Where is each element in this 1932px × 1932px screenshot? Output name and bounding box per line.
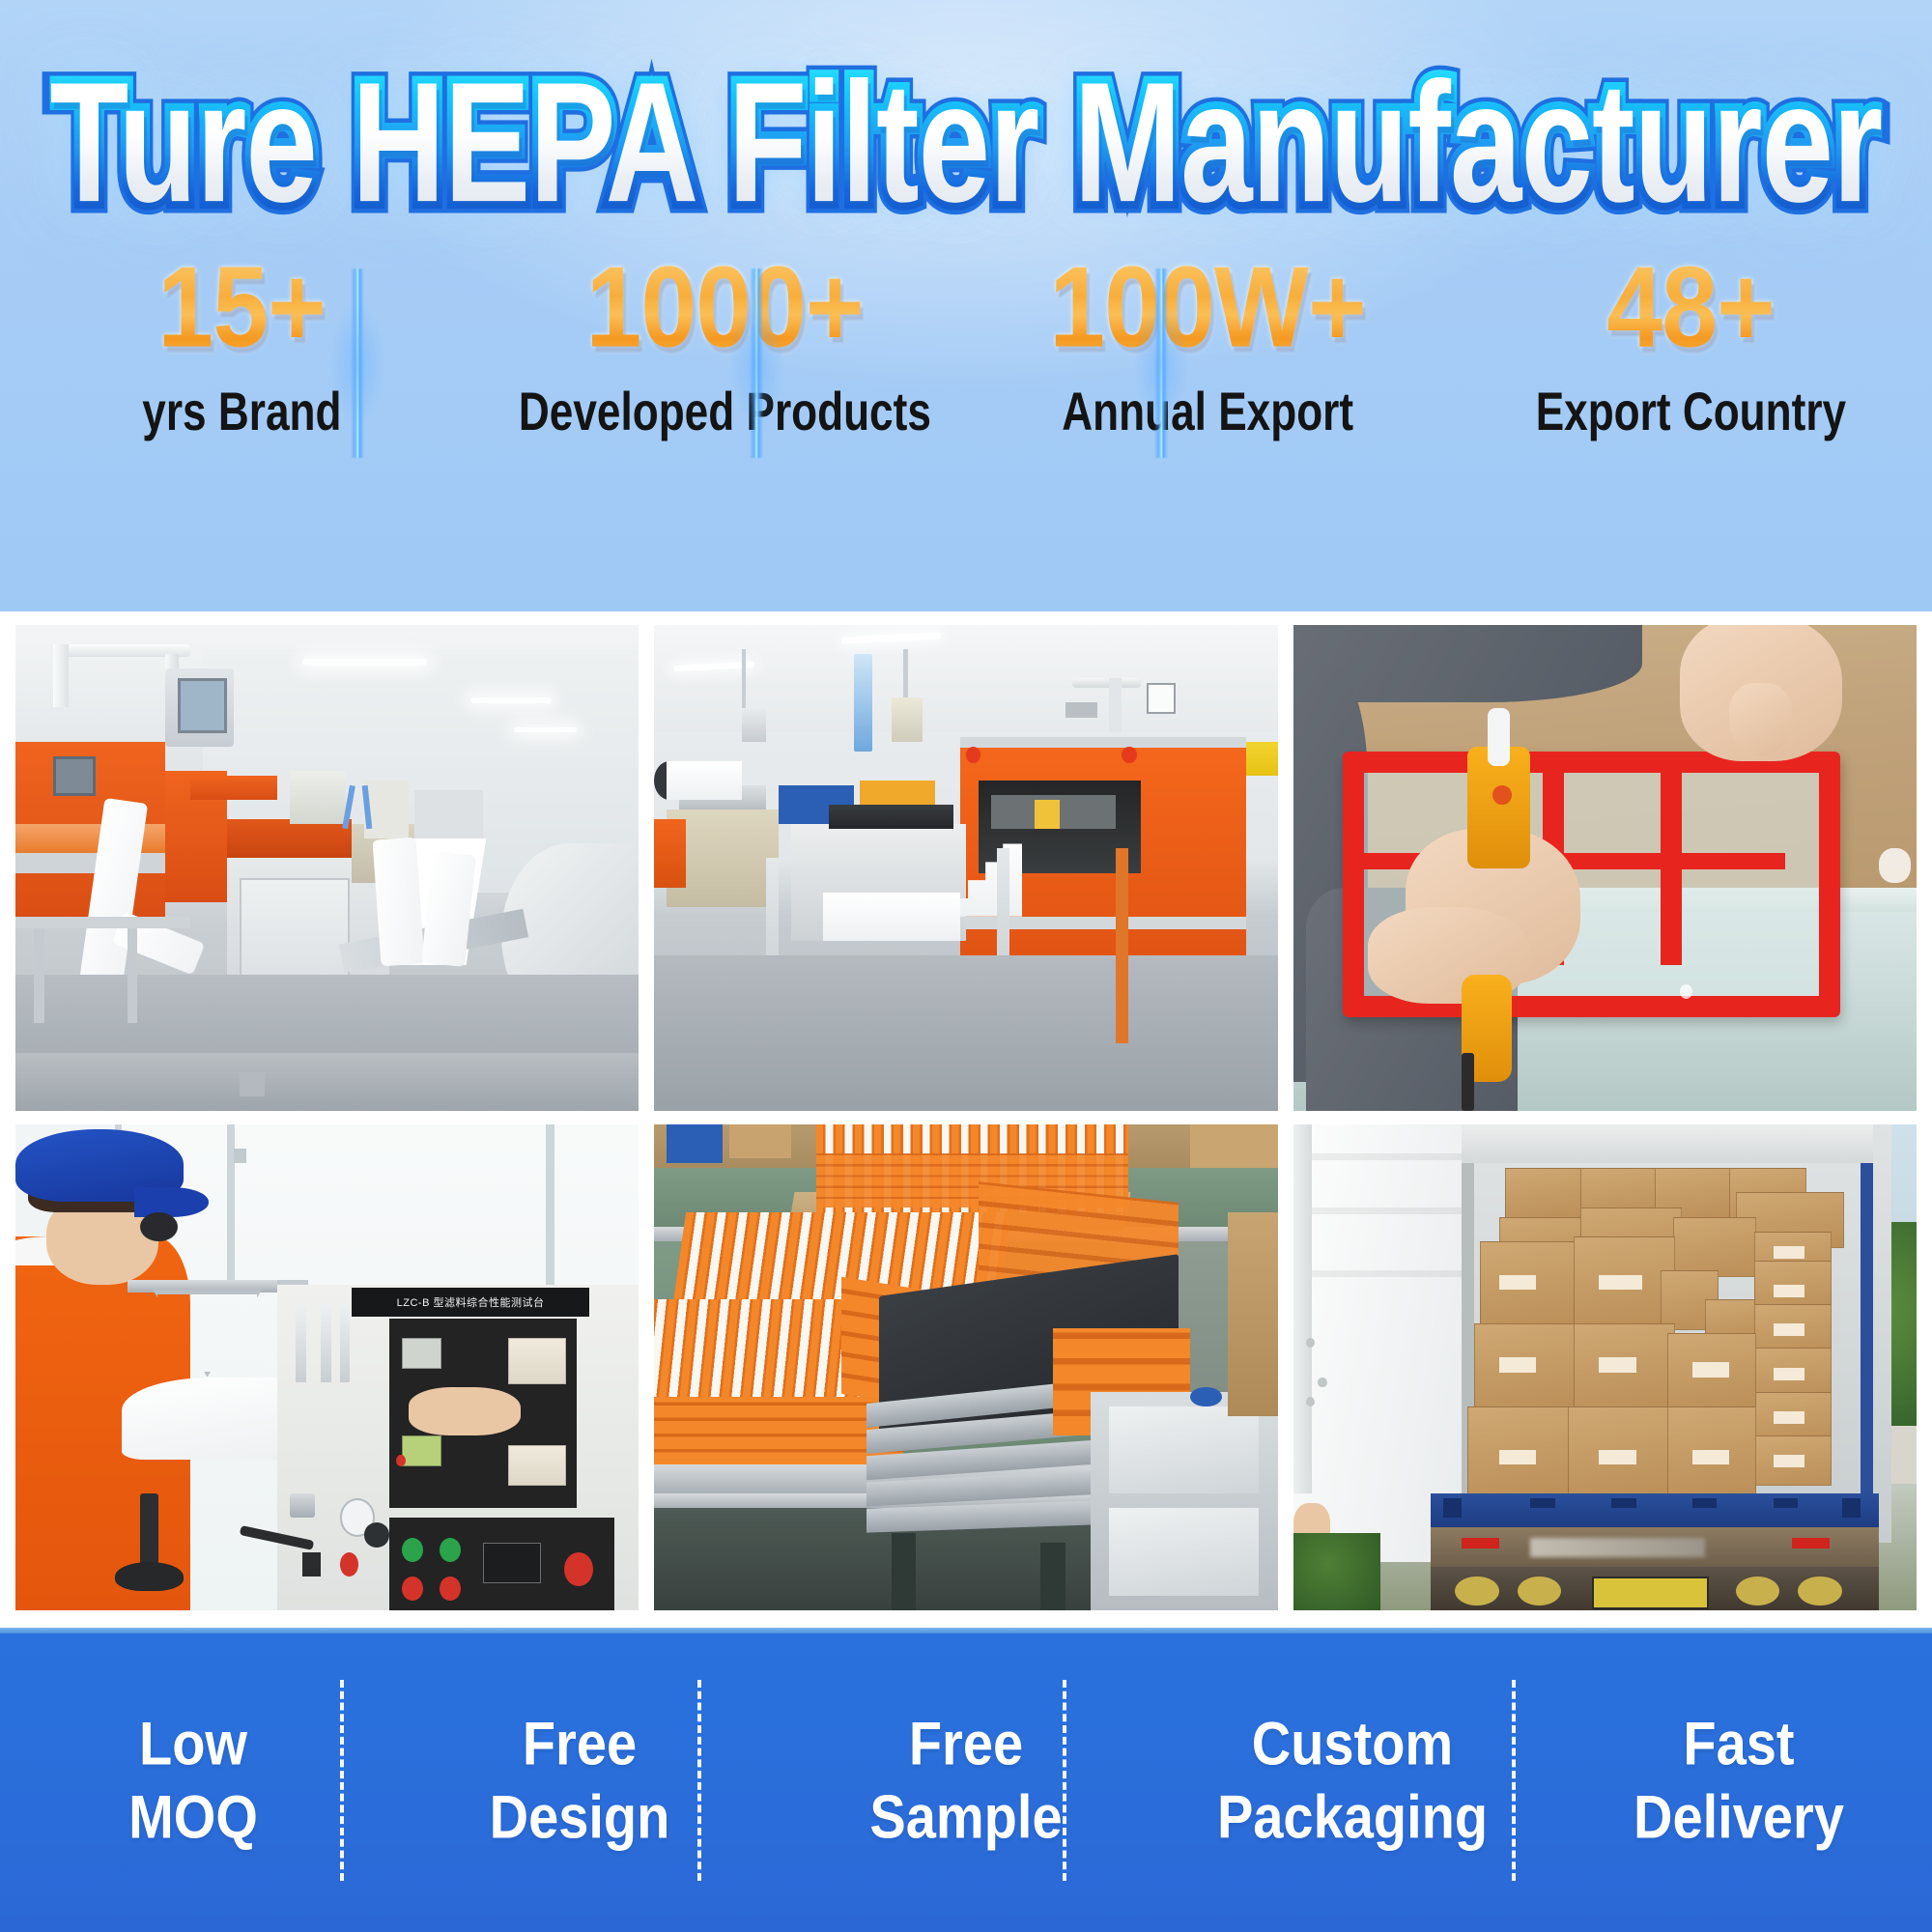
stat-number: 15+ [157, 249, 325, 366]
photo-finished-filters [654, 1124, 1277, 1610]
stat-divider-3 [1154, 269, 1168, 458]
feature-line-1: Free [909, 1713, 1023, 1774]
stat-number: 100W+ [1049, 249, 1365, 366]
stat-number: 1000+ [585, 249, 863, 366]
stats-row: 15+ yrs Brand 1000+ Developed Products 1… [0, 249, 1932, 481]
stat-developed-products: 1000+ Developed Products [483, 249, 966, 429]
photo-performance-testing: LZC-B 型滤料综合性能测试台 [15, 1124, 639, 1610]
stat-divider-1 [351, 269, 364, 458]
stat-annual-export: 100W+ Annual Export [966, 249, 1449, 429]
feature-line-2: MOQ [128, 1786, 258, 1847]
feature-divider-2 [697, 1680, 701, 1881]
photo-gallery: LZC-B 型滤料综合性能测试台 [0, 611, 1932, 1628]
feature-line-1: Fast [1683, 1713, 1794, 1774]
feature-line-2: Design [490, 1786, 670, 1847]
footer-features-bar: Low MOQ Free Design Free Sample Custom P… [0, 1628, 1932, 1932]
test-bench-label: LZC-B 型滤料综合性能测试台 [397, 1294, 545, 1310]
feature-line-2: Delivery [1634, 1786, 1844, 1847]
feature-divider-3 [1063, 1680, 1066, 1881]
feature-low-moq: Low MOQ [0, 1717, 386, 1844]
stat-label: yrs Brand [142, 384, 341, 438]
photo-pleating-machine [15, 625, 639, 1111]
feature-line-1: Free [523, 1713, 637, 1774]
stat-label: Developed Products [519, 384, 931, 438]
photo-frame-gluing [1293, 625, 1917, 1111]
feature-free-design: Free Design [386, 1717, 773, 1844]
stat-divider-2 [750, 269, 763, 458]
stat-export-country: 48+ Export Country [1449, 249, 1932, 429]
feature-row: Low MOQ Free Design Free Sample Custom P… [0, 1628, 1932, 1932]
feature-line-2: Sample [869, 1786, 1062, 1847]
banner-title: Ture HEPA Filter Manufacturer Ture HEPA … [50, 57, 1883, 228]
feature-divider-4 [1512, 1680, 1516, 1881]
feature-divider-1 [340, 1680, 344, 1881]
feature-line-1: Custom [1252, 1713, 1453, 1774]
feature-custom-packaging: Custom Packaging [1159, 1717, 1546, 1844]
photo-container-loading [1293, 1124, 1917, 1610]
header-section: Ture HEPA Filter Manufacturer Ture HEPA … [0, 0, 1932, 611]
stat-label: Annual Export [1062, 384, 1353, 438]
photo-cutting-machine [654, 625, 1277, 1111]
feature-free-sample: Free Sample [773, 1717, 1159, 1844]
feature-line-2: Packaging [1217, 1786, 1488, 1847]
feature-line-1: Low [139, 1713, 247, 1774]
title-face: Ture HEPA Filter Manufacturer [50, 46, 1883, 238]
stat-yrs-brand: 15+ yrs Brand [0, 249, 483, 429]
feature-fast-delivery: Fast Delivery [1546, 1717, 1932, 1844]
page-title: Ture HEPA Filter Manufacturer Ture HEPA … [0, 70, 1932, 214]
stat-label: Export Country [1535, 384, 1845, 438]
promo-banner: Ture HEPA Filter Manufacturer Ture HEPA … [0, 0, 1932, 1932]
stat-number: 48+ [1606, 249, 1774, 366]
